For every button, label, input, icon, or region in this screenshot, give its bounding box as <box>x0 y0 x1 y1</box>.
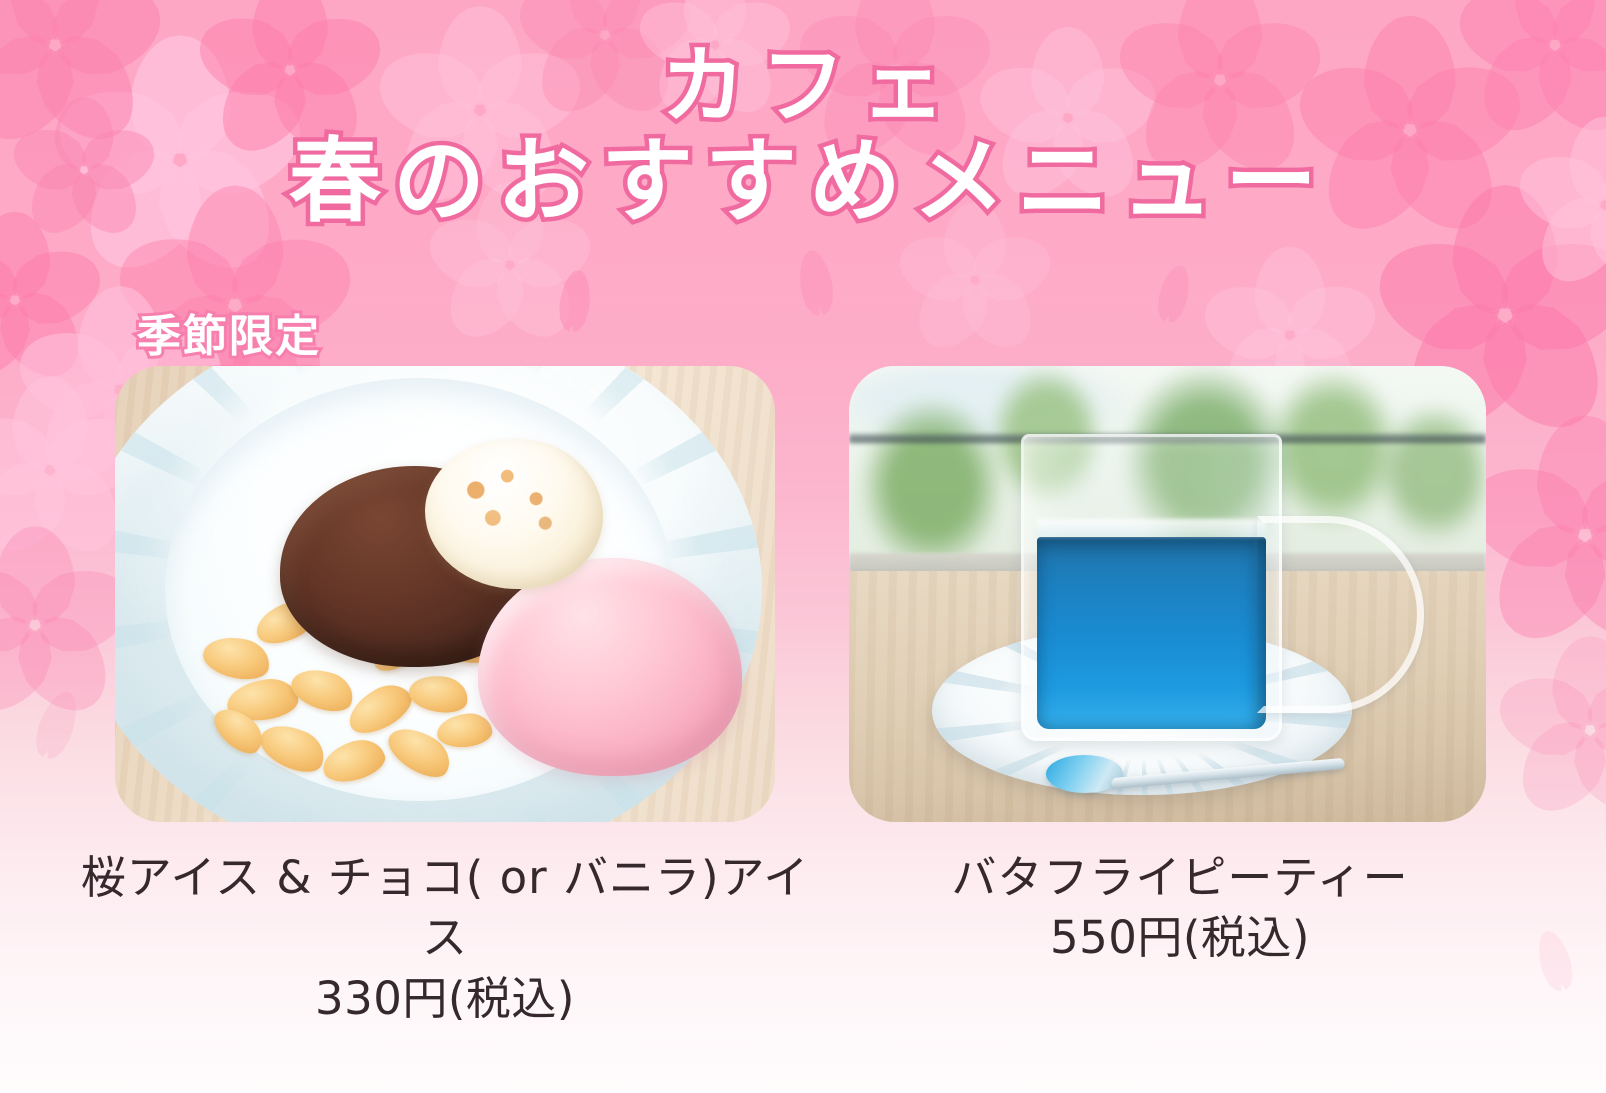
seasonal-limited-badge: 季節限定 <box>137 300 321 364</box>
sakura-blossom-icon <box>640 0 790 120</box>
menu-item-photo-butterfly-pea-tea <box>849 366 1486 822</box>
sakura-blossom-icon <box>200 0 380 160</box>
sakura-blossom-icon <box>1500 640 1606 820</box>
butterfly-pea-tea-photo <box>849 366 1486 822</box>
sakura-blossom-icon <box>1460 0 1606 140</box>
sakura-blossom-icon <box>0 530 130 720</box>
menu-item-photo-ice-cream <box>115 366 775 822</box>
ice-cream-photo <box>115 366 775 822</box>
sakura-petal-icon <box>795 248 837 318</box>
whipped-cream-topping <box>425 439 603 589</box>
spoon-handle <box>1111 758 1345 789</box>
menu-item-price: 550円(税込) <box>880 908 1480 968</box>
sakura-blossom-icon <box>1520 120 1606 290</box>
menu-item-name: 桜アイス & チョコ( or バニラ)アイス <box>60 848 830 969</box>
sakura-blossom-icon <box>1470 420 1606 650</box>
cafe-spring-menu-poster: カフェ 春のおすすめメニュー 季節限定 <box>0 0 1606 1093</box>
sakura-petal-icon <box>1532 927 1578 995</box>
sakura-petal-icon <box>1153 262 1194 325</box>
sakura-blossom-icon <box>900 205 1050 355</box>
sakura-blossom-icon <box>800 0 990 165</box>
menu-item-price: 330円(税込) <box>60 969 830 1029</box>
teaspoon <box>1046 758 1339 790</box>
spoon-bowl <box>1046 755 1122 793</box>
glass-mug <box>1021 434 1282 741</box>
menu-item-caption-butterfly-pea-tea: バタフライピーティー 550円(税込) <box>880 848 1480 969</box>
menu-item-caption-ice-cream: 桜アイス & チョコ( or バニラ)アイス 330円(税込) <box>60 848 830 1029</box>
sakura-blossom-icon <box>1120 0 1320 180</box>
blue-tea-liquid <box>1037 537 1266 730</box>
menu-item-name: バタフライピーティー <box>880 848 1480 908</box>
tea-surface-line <box>1037 519 1266 537</box>
